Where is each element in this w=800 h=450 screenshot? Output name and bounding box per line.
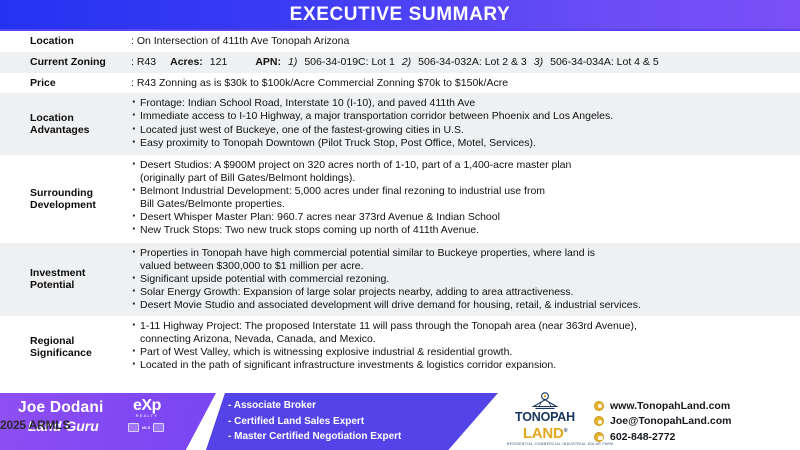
row-value: : R43 Zonning as is $30k to $100k/Acre C… <box>131 73 800 94</box>
list-item-continuation: (originally part of Bill Gates/Belmont h… <box>140 172 792 185</box>
table-row: Location Advantages Frontage: Indian Sch… <box>0 93 800 155</box>
list-item-text: 1-11 Highway Project: The proposed Inter… <box>140 320 637 332</box>
table-row: Regional Significance 1-11 Highway Proje… <box>0 316 800 378</box>
exp-realty-logo: eXp REALTY <box>133 398 161 419</box>
credential-item: - Certified Land Sales Expert <box>228 414 401 430</box>
row-label: Regional Significance <box>0 316 131 378</box>
bullet-list: Frontage: Indian School Road, Interstate… <box>131 97 792 149</box>
logo-word-tonopah: TONOPAH <box>507 411 583 424</box>
logo-word-land: LAND® <box>507 424 583 441</box>
apn-label: APN: <box>255 56 281 68</box>
logo-registered-icon: ® <box>564 428 567 434</box>
summary-table: Location : On Intersection of 411th Ave … <box>0 31 800 378</box>
apn-number-2: 2) <box>402 56 411 68</box>
row-label-line2: Development <box>30 199 96 212</box>
list-item: Easy proximity to Tonopah Downtown (Pilo… <box>131 137 792 150</box>
contact-email[interactable]: Joe@TonopahLand.com <box>594 414 731 430</box>
apn-number-1: 1) <box>288 56 297 68</box>
agent-name: Joe Dodani <box>18 399 104 417</box>
row-label-line2: Significance <box>30 347 92 360</box>
credential-item: - Master Certified Negotiation Expert <box>228 429 401 445</box>
row-label-line2: Advantages <box>30 124 90 137</box>
page-header: EXECUTIVE SUMMARY <box>0 0 800 31</box>
row-label: Current Zoning <box>0 52 131 73</box>
realtor-icon <box>128 423 139 432</box>
tonopah-land-logo: TONOPAH LAND® RESIDENTIAL COMMERCIAL IND… <box>507 392 583 446</box>
list-item: Belmont Industrial Development: 5,000 ac… <box>131 185 792 210</box>
apn-text-2: 506-34-032A: Lot 2 & 3 <box>418 56 527 68</box>
credentials-list: - Associate Broker - Certified Land Sale… <box>228 398 401 445</box>
phone-icon <box>594 432 604 442</box>
row-label-line1: Surrounding <box>30 187 96 200</box>
bullet-list: Properties in Tonopah have high commerci… <box>131 247 792 311</box>
armls-watermark: 2025 ARMLS <box>0 418 70 432</box>
list-item: Immediate access to I-10 Highway, a majo… <box>131 110 792 123</box>
list-item: Desert Studios: A $900M project on 320 a… <box>131 159 792 184</box>
row-value: 1-11 Highway Project: The proposed Inter… <box>131 316 800 376</box>
list-item: Desert Movie Studio and associated devel… <box>131 299 792 312</box>
row-value: Desert Studios: A $900M project on 320 a… <box>131 155 800 241</box>
list-item-continuation: Bill Gates/Belmonte properties. <box>140 198 792 211</box>
exp-wordmark: eXp <box>133 398 161 413</box>
table-row: Price : R43 Zonning as is $30k to $100k/… <box>0 73 800 94</box>
row-label: Price <box>0 73 131 94</box>
exp-subtext: REALTY <box>133 413 161 419</box>
list-item-text: Belmont Industrial Development: 5,000 ac… <box>140 185 545 197</box>
row-value: Properties in Tonopah have high commerci… <box>131 243 800 316</box>
logo-mark-svg <box>507 392 583 411</box>
credential-item: - Associate Broker <box>228 398 401 414</box>
equal-housing-icon <box>153 423 164 432</box>
list-item: New Truck Stops: Two new truck stops com… <box>131 224 792 237</box>
logo-land-text: LAND <box>523 425 564 442</box>
contact-phone-text: 602-848-2772 <box>610 431 675 443</box>
row-value: : On Intersection of 411th Ave Tonopah A… <box>131 31 800 52</box>
row-label: Location Advantages <box>0 93 131 155</box>
row-label-line1: Location <box>30 112 90 125</box>
list-item: Desert Whisper Master Plan: 960.7 acres … <box>131 211 792 224</box>
row-label: Surrounding Development <box>0 155 131 243</box>
list-item: Properties in Tonopah have high commerci… <box>131 247 792 272</box>
list-item-continuation: connecting Arizona, Nevada, Canada, and … <box>140 333 792 346</box>
list-item: Part of West Valley, which is witnessing… <box>131 346 792 359</box>
row-label-line1: Investment <box>30 267 85 280</box>
table-row: Location : On Intersection of 411th Ave … <box>0 31 800 52</box>
acres-label: Acres: <box>170 56 203 68</box>
table-row: Current Zoning : R43Acres:121APN:1)506-3… <box>0 52 800 73</box>
bullet-list: Desert Studios: A $900M project on 320 a… <box>131 159 792 236</box>
table-row: Investment Potential Properties in Tonop… <box>0 243 800 316</box>
bullet-list: 1-11 Highway Project: The proposed Inter… <box>131 320 792 371</box>
apn-text-1: 506-34-019C: Lot 1 <box>304 56 394 68</box>
contact-phone[interactable]: 602-848-2772 <box>594 429 731 445</box>
row-label-line2: Potential <box>30 279 85 292</box>
contact-list: www.TonopahLand.com Joe@TonopahLand.com … <box>594 398 731 445</box>
list-item: Significant upside potential with commer… <box>131 273 792 286</box>
list-item: 1-11 Highway Project: The proposed Inter… <box>131 320 792 345</box>
list-item: Solar Energy Growth: Expansion of large … <box>131 286 792 299</box>
contact-website[interactable]: www.TonopahLand.com <box>594 398 731 414</box>
globe-icon <box>594 401 604 411</box>
row-label: Investment Potential <box>0 243 131 315</box>
house-sun-icon <box>507 392 583 411</box>
row-label-line1: Regional <box>30 335 92 348</box>
logo-tagline: RESIDENTIAL COMMERCIAL INDUSTRIAL SOLAR … <box>507 441 583 447</box>
list-item: Located in the path of significant infra… <box>131 359 792 372</box>
page-title: EXECUTIVE SUMMARY <box>290 4 511 26</box>
row-value: Frontage: Indian School Road, Interstate… <box>131 93 800 153</box>
table-row: Surrounding Development Desert Studios: … <box>0 155 800 243</box>
contact-email-text: Joe@TonopahLand.com <box>610 415 731 427</box>
list-item: Located just west of Buckeye, one of the… <box>131 124 792 137</box>
list-item-text: Desert Studios: A $900M project on 320 a… <box>140 159 571 171</box>
row-value: : R43Acres:121APN:1)506-34-019C: Lot 12)… <box>131 52 800 73</box>
list-item-text: Properties in Tonopah have high commerci… <box>140 247 595 259</box>
zoning-value: : R43 <box>131 56 156 68</box>
acres-value: 121 <box>210 56 228 68</box>
row-label: Location <box>0 31 131 52</box>
apn-number-3: 3) <box>534 56 543 68</box>
email-icon <box>594 416 604 426</box>
contact-website-text: www.TonopahLand.com <box>610 400 730 412</box>
apn-text-3: 506-34-034A: Lot 4 & 5 <box>550 56 659 68</box>
mls-icon: MLS <box>142 425 150 430</box>
list-item-continuation: valued between $300,000 to $1 million pe… <box>140 260 792 273</box>
realtor-badges: MLS <box>128 423 164 432</box>
executive-summary-page: EXECUTIVE SUMMARY Location : On Intersec… <box>0 0 800 450</box>
list-item: Frontage: Indian School Road, Interstate… <box>131 97 792 110</box>
